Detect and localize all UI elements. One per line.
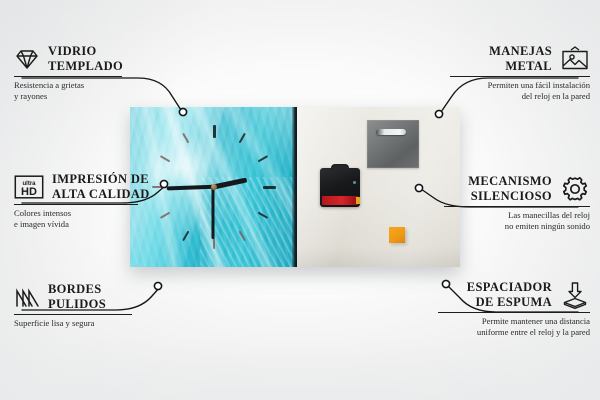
callout-espaciador-de-espuma: ESPACIADOR DE ESPUMA Permite mantener un… bbox=[420, 280, 590, 338]
battery bbox=[322, 196, 358, 205]
callout-bordes-pulidos: BORDES PULIDOS Superficie lisa y segura bbox=[14, 282, 164, 329]
callout-manejas-metal: MANEJAS METAL Permiten una fácil instala… bbox=[422, 44, 590, 102]
callout-impresion-alta-calidad: ultra HD IMPRESIÓN DE ALTA CALIDAD Color… bbox=[14, 172, 176, 230]
callout-title: ESPACIADOR DE ESPUMA bbox=[467, 280, 552, 309]
infographic-canvas: VIDRIO TEMPLADO Resistencia a grietas y … bbox=[0, 0, 600, 400]
callout-title: IMPRESIÓN DE ALTA CALIDAD bbox=[52, 172, 150, 201]
foam-spacer bbox=[389, 227, 405, 243]
callout-subtitle: Permiten una fácil instalación del reloj… bbox=[422, 80, 590, 102]
svg-text:HD: HD bbox=[21, 186, 37, 198]
callout-subtitle: Colores intensos e imagen vívida bbox=[14, 208, 176, 230]
callout-title: BORDES PULIDOS bbox=[48, 282, 106, 311]
clock-center-pin bbox=[211, 184, 217, 190]
hanger-slot bbox=[376, 129, 406, 135]
callout-title: VIDRIO TEMPLADO bbox=[48, 44, 123, 73]
product-photo bbox=[130, 107, 460, 267]
callout-title: MECANISMO SILENCIOSO bbox=[468, 174, 552, 203]
callout-vidrio-templado: VIDRIO TEMPLADO Resistencia a grietas y … bbox=[14, 44, 164, 102]
callout-mecanismo-silencioso: MECANISMO SILENCIOSO Las manecillas del … bbox=[422, 174, 590, 232]
callout-rule bbox=[14, 314, 132, 315]
arrow-down-onto-layer-icon bbox=[560, 281, 590, 309]
metal-hanger bbox=[367, 120, 419, 168]
mechanism-marking bbox=[353, 181, 356, 184]
callout-rule bbox=[450, 76, 590, 77]
tick-12 bbox=[213, 125, 215, 187]
gear-icon bbox=[560, 175, 590, 203]
ultra-hd-icon: ultra HD bbox=[14, 174, 44, 200]
polished-edges-icon bbox=[14, 285, 40, 309]
callout-subtitle: Las manecillas del reloj no emiten ningú… bbox=[422, 210, 590, 232]
callout-title: MANEJAS METAL bbox=[489, 44, 552, 73]
clock-hand-second bbox=[212, 187, 215, 239]
mechanism-lug bbox=[331, 164, 349, 170]
callout-subtitle: Resistencia a grietas y rayones bbox=[14, 80, 164, 102]
quartz-mechanism bbox=[320, 168, 360, 207]
callout-rule bbox=[14, 204, 138, 205]
callout-rule bbox=[14, 76, 122, 77]
picture-frame-hanger-icon bbox=[560, 46, 590, 72]
diamond-icon bbox=[14, 47, 40, 71]
callout-subtitle: Superficie lisa y segura bbox=[14, 318, 164, 329]
callout-subtitle: Permite mantener una distancia uniforme … bbox=[420, 316, 590, 338]
callout-rule bbox=[438, 312, 590, 313]
callout-rule bbox=[444, 206, 590, 207]
